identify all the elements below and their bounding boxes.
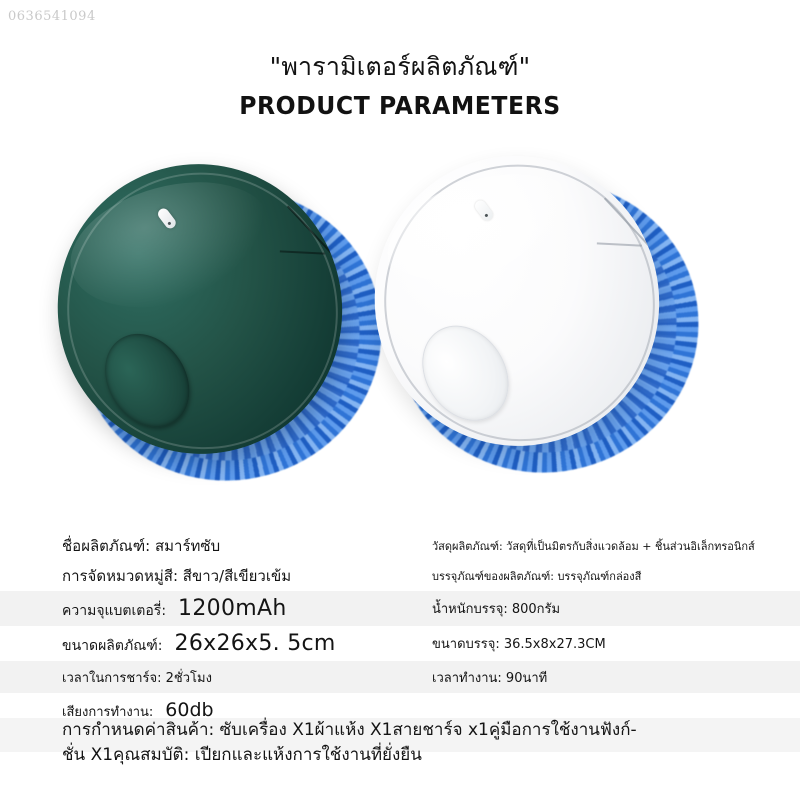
spec-label: ขนาดผลิตภัณฑ์: [62, 635, 163, 657]
page-title-english: PRODUCT PARAMETERS [24, 91, 776, 120]
body-seam-line-secondary [280, 251, 325, 255]
page-title-thai: "พารามิเตอร์ผลิตภัณฑ์" [0, 52, 800, 82]
product-configuration-description: การกำหนดค่าสินค้า: ซับเครื่อง X1ผ้าแห้ง … [0, 718, 800, 768]
spec-label: ความจุแบตเตอรี่: [62, 600, 166, 622]
spec-cell-left: การจัดหมวดหมู่สี: สีขาว/สีเขียวเข้ม [62, 564, 432, 588]
spec-cell-right: เวลาทำงาน: 90นาที [432, 667, 744, 688]
body-gloss-highlight [374, 154, 601, 319]
spec-cell-right: บรรจุภัณฑ์ของผลิตภัณฑ์: บรรจุภัณฑ์กล่องส… [432, 567, 744, 585]
spec-row-charging-time: เวลาในการชาร์จ: 2ชั่วโมง เวลาทำงาน: 90นา… [0, 661, 800, 693]
spec-cell-left: ชื่อผลิตภัณฑ์: สมาร์ทซับ [62, 534, 432, 558]
spec-label: ขนาดบรรจุ: 36.5x8x27.3CM [432, 633, 606, 654]
spec-label: เวลาในการชาร์จ: 2ชั่วโมง [62, 667, 212, 688]
spec-label: เวลาทำงาน: 90นาที [432, 667, 547, 688]
spec-cell-left: ขนาดผลิตภัณฑ์: 26x26x5. 5cm [62, 631, 432, 657]
spec-row-color-classification: การจัดหมวดหมู่สี: สีขาว/สีเขียวเข้ม บรรจ… [0, 561, 800, 591]
spec-label: วัสดุผลิตภัณฑ์: วัสดุที่เป็นมิตรกับสิ่งแ… [432, 537, 755, 555]
spec-label: บรรจุภัณฑ์ของผลิตภัณฑ์: บรรจุภัณฑ์กล่องส… [432, 567, 641, 585]
spec-label: การจัดหมวดหมู่สี: สีขาว/สีเขียวเข้ม [62, 564, 291, 588]
spec-value: 26x26x5. 5cm [175, 631, 336, 656]
product-image-green-robot-vacuum [58, 164, 388, 494]
spec-row-battery-capacity: ความจุแบตเตอรี่: 1200mAh น้ำหนักบรรจุ: 8… [0, 591, 800, 626]
spec-label: ชื่อผลิตภัณฑ์: สมาร์ทซับ [62, 534, 220, 558]
spec-row-product-size: ขนาดผลิตภัณฑ์: 26x26x5. 5cm ขนาดบรรจุ: 3… [0, 626, 800, 661]
spec-cell-right: น้ำหนักบรรจุ: 800กรัม [432, 598, 744, 619]
side-bumper-wheel [405, 310, 526, 437]
spec-cell-left: เวลาในการชาร์จ: 2ชั่วโมง [62, 667, 432, 688]
specification-table: ชื่อผลิตภัณฑ์: สมาร์ทซับ วัสดุผลิตภัณฑ์:… [0, 531, 800, 727]
product-image-gallery [0, 150, 800, 525]
side-bumper-wheel [88, 318, 206, 443]
description-line-2: ชั่น X1คุณสมบัติ: เปียกและแห้งการใช้งานท… [62, 743, 752, 768]
spec-label: น้ำหนักบรรจุ: 800กรัม [432, 598, 560, 619]
spec-cell-left: ความจุแบตเตอรี่: 1200mAh [62, 596, 432, 622]
body-gloss-highlight [57, 162, 284, 327]
page-heading: "พารามิเตอร์ผลิตภัณฑ์" PRODUCT PARAMETER… [0, 52, 800, 120]
product-parameters-page: 0636541094 "พารามิเตอร์ผลิตภัณฑ์" PRODUC… [0, 0, 800, 800]
product-image-white-robot-vacuum [375, 156, 705, 486]
watermark-text: 0636541094 [8, 9, 96, 24]
spec-value: 1200mAh [178, 596, 287, 621]
description-line-1: การกำหนดค่าสินค้า: ซับเครื่อง X1ผ้าแห้ง … [62, 718, 752, 743]
spec-cell-right: ขนาดบรรจุ: 36.5x8x27.3CM [432, 633, 744, 654]
spec-row-product-name: ชื่อผลิตภัณฑ์: สมาร์ทซับ วัสดุผลิตภัณฑ์:… [0, 531, 800, 561]
spec-cell-right: วัสดุผลิตภัณฑ์: วัสดุที่เป็นมิตรกับสิ่งแ… [432, 537, 744, 555]
body-seam-line-secondary [597, 243, 642, 247]
